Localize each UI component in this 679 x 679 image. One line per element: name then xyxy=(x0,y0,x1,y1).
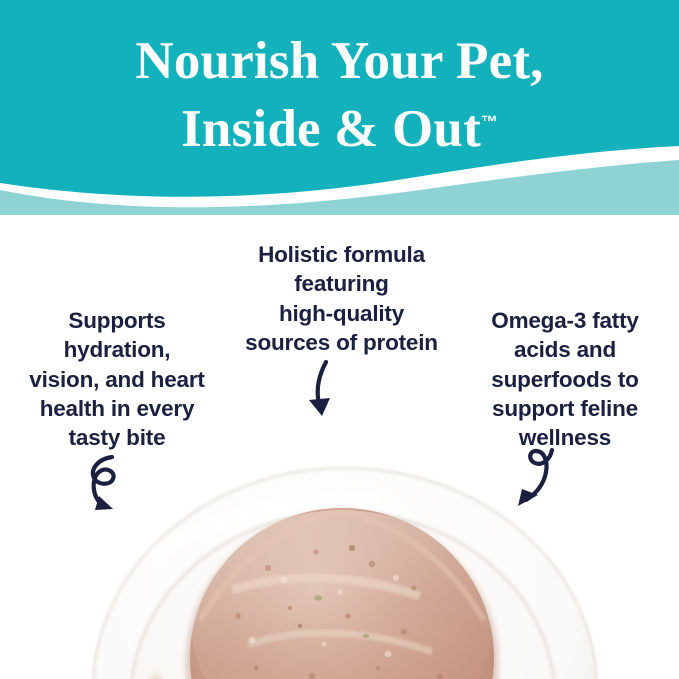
pet-food-infographic: Nourish Your Pet, Inside & Out™ xyxy=(0,0,679,679)
banner-wave-shape xyxy=(0,0,679,215)
callout-omega-3-superfoods: Omega-3 fatty acids and superfoods to su… xyxy=(455,306,675,452)
callout-mid-line-1: Holistic formula xyxy=(229,240,454,269)
callout-mid-line-2: featuring xyxy=(229,269,454,298)
curved-arrow-down-icon xyxy=(298,358,358,422)
callout-left-line-3: vision, and heart xyxy=(8,365,226,394)
callout-right-line-2: acids and xyxy=(455,335,675,364)
callout-right-line-3: superfoods to xyxy=(455,365,675,394)
callout-left-line-4: health in every xyxy=(8,394,226,423)
callout-left-line-1: Supports xyxy=(8,306,226,335)
callout-right-line-4: support feline xyxy=(455,394,675,423)
cat-food-bowl-image xyxy=(0,440,679,679)
wave-main-layer xyxy=(0,0,679,197)
callout-left-line-2: hydration, xyxy=(8,335,226,364)
callout-holistic-protein: Holistic formula featuring high-quality … xyxy=(229,240,454,357)
callout-mid-line-3: high-quality xyxy=(229,299,454,328)
bowl-illustration xyxy=(0,440,679,679)
header-banner: Nourish Your Pet, Inside & Out™ xyxy=(0,0,679,215)
callout-mid-line-4: sources of protein xyxy=(229,328,454,357)
callout-hydration-vision-heart: Supports hydration, vision, and heart he… xyxy=(8,306,226,452)
callout-right-line-1: Omega-3 fatty xyxy=(455,306,675,335)
